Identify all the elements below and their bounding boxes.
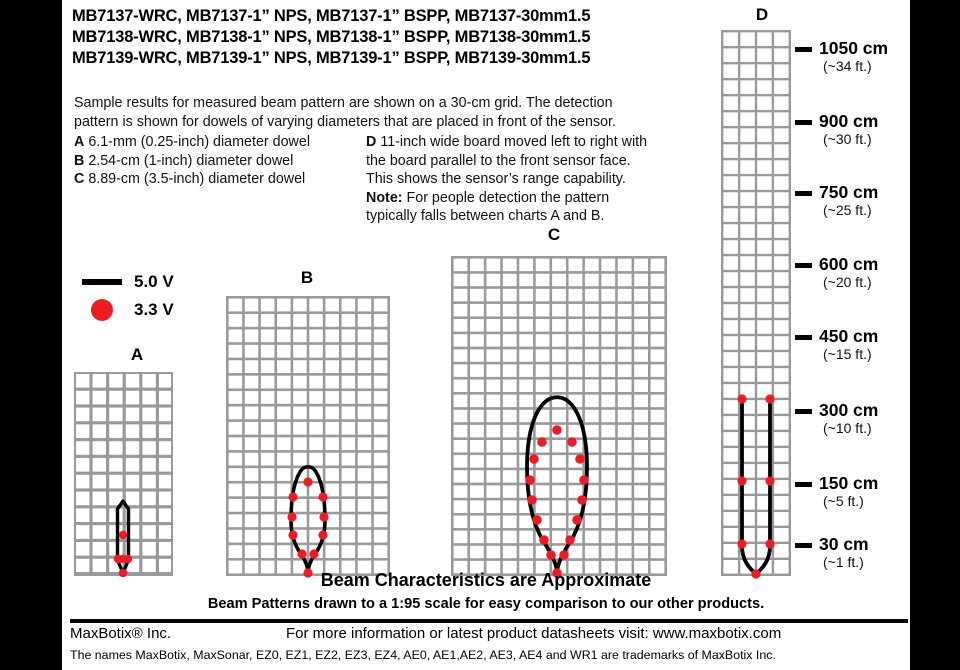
note-text-2: typically falls between charts A and B. (366, 208, 604, 224)
tick-mark-icon (795, 47, 812, 52)
tick-ft-900: (~30 ft.) (823, 131, 872, 147)
footer-company: MaxBotix® Inc. (70, 625, 171, 642)
tick-cm-1050: 1050 cm (819, 38, 888, 59)
tick-cm-750: 750 cm (819, 182, 878, 203)
chart-a-grid (74, 372, 173, 576)
note-row-2: typically falls between charts A and B. (366, 207, 706, 226)
tick-mark-icon (795, 263, 812, 268)
caption-scale-note: Beam Patterns drawn to a 1:95 scale for … (62, 596, 910, 612)
title-line-2: MB7138-WRC, MB7138-1” NPS, MB7138-1” BSP… (72, 27, 732, 48)
chart-label-d: D (742, 5, 782, 25)
chart-label-a: A (117, 345, 157, 365)
tick-mark-icon (795, 191, 812, 196)
tick-mark-icon (795, 543, 812, 548)
chart-b-grid (226, 296, 390, 576)
chart-a-panel (70, 368, 178, 580)
tick-ft-600: (~20 ft.) (823, 274, 872, 290)
board-text-d2-row: the board parallel to the front sensor f… (366, 152, 706, 171)
dowel-item-b: B 2.54-cm (1-inch) diameter dowel (74, 152, 352, 171)
tick-ft-1050: (~34 ft.) (823, 58, 872, 74)
footer-trademarks: The names MaxBotix, MaxSonar, EZ0, EZ1, … (70, 648, 910, 662)
tick-cm-900: 900 cm (819, 111, 878, 132)
tick-ft-450: (~15 ft.) (823, 346, 872, 362)
chart-label-c: C (534, 225, 574, 245)
dowel-item-a: A 6.1-mm (0.25-inch) diameter dowel (74, 133, 352, 152)
board-item-d: D 11-inch wide board moved left to right… (366, 133, 706, 152)
dot-swatch-wrap (82, 299, 122, 321)
dowel-text-b: 2.54-cm (1-inch) diameter dowel (88, 153, 293, 169)
datasheet-page: MB7137-WRC, MB7137-1” NPS, MB7137-1” BSP… (62, 0, 910, 670)
legend-row-33v: 3.3 V (82, 296, 174, 324)
note-text-1: For people detection the pattern (407, 190, 610, 206)
dot-swatch-icon (91, 299, 113, 321)
dowel-key-a: A (74, 134, 84, 150)
legend-row-5v: 5.0 V (82, 268, 174, 296)
chart-c-panel (447, 252, 672, 580)
board-text-d3-row: This shows the sensor’s range capability… (366, 170, 706, 189)
tick-mark-icon (795, 409, 812, 414)
line-swatch-icon (82, 279, 122, 285)
tick-ft-750: (~25 ft.) (823, 202, 872, 218)
dowel-text-a: 6.1-mm (0.25-inch) diameter dowel (88, 134, 310, 150)
tick-cm-150: 150 cm (819, 473, 878, 494)
dowel-key-c: C (74, 171, 84, 187)
title-line-3: MB7139-WRC, MB7139-1” NPS, MB7139-1” BSP… (72, 48, 732, 69)
intro-paragraph: Sample results for measured beam pattern… (74, 94, 704, 131)
dowel-text-c: 8.89-cm (3.5-inch) diameter dowel (88, 171, 305, 187)
legend-label-5v: 5.0 V (134, 272, 174, 292)
board-text-d1: 11-inch wide board moved left to right w… (380, 134, 647, 150)
chart-d-panel (717, 26, 799, 580)
board-key-d: D (366, 134, 376, 150)
footer-info[interactable]: For more information or latest product d… (286, 625, 781, 642)
tick-ft-150: (~5 ft.) (823, 493, 864, 509)
chart-c-grid (451, 256, 667, 576)
title-line-1: MB7137-WRC, MB7137-1” NPS, MB7137-1” BSP… (72, 6, 732, 27)
footer-primary: MaxBotix® Inc. For more information or l… (70, 625, 910, 647)
dowel-list: A 6.1-mm (0.25-inch) diameter dowel B 2.… (74, 133, 352, 226)
tick-ft-30: (~1 ft.) (823, 554, 864, 570)
legend-label-33v: 3.3 V (134, 300, 174, 320)
tick-cm-600: 600 cm (819, 254, 878, 275)
intro-line-2: pattern is shown for dowels of varying d… (74, 113, 704, 132)
footer-divider (70, 619, 908, 623)
tick-mark-icon (795, 335, 812, 340)
tick-mark-icon (795, 482, 812, 487)
tick-cm-300: 300 cm (819, 400, 878, 421)
description-columns: A 6.1-mm (0.25-inch) diameter dowel B 2.… (74, 133, 724, 226)
note-row: Note: For people detection the pattern (366, 189, 706, 208)
intro-line-1: Sample results for measured beam pattern… (74, 94, 704, 113)
dowel-item-c: C 8.89-cm (3.5-inch) diameter dowel (74, 170, 352, 189)
tick-ft-300: (~10 ft.) (823, 420, 872, 436)
board-list: D 11-inch wide board moved left to right… (366, 133, 706, 226)
board-text-d2: the board parallel to the front sensor f… (366, 153, 631, 169)
voltage-legend: 5.0 V 3.3 V (82, 268, 174, 324)
chart-d-grid (721, 30, 791, 576)
dowel-key-b: B (74, 153, 84, 169)
caption-approximate: Beam Characteristics are Approximate (62, 570, 910, 591)
tick-mark-icon (795, 120, 812, 125)
tick-cm-450: 450 cm (819, 326, 878, 347)
page-title: MB7137-WRC, MB7137-1” NPS, MB7137-1” BSP… (72, 6, 732, 69)
board-text-d3: This shows the sensor’s range capability… (366, 171, 626, 187)
tick-cm-30: 30 cm (819, 534, 869, 555)
chart-b-panel (222, 292, 394, 580)
chart-label-b: B (287, 268, 327, 288)
note-key: Note: (366, 190, 403, 206)
